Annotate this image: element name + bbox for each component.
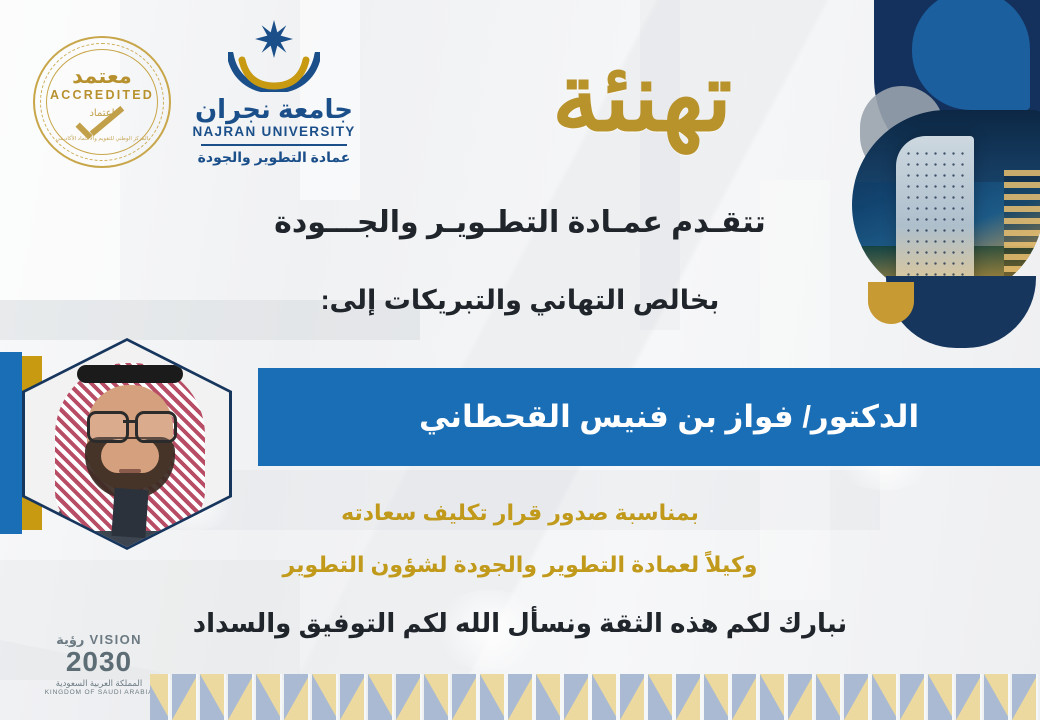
honoree-name: الدكتور/ فواز بن فنيس القحطاني — [379, 399, 919, 435]
headline-line-2: بخالص التهاني والتبريكات إلى: — [0, 285, 1040, 316]
vision-word-english: VISION — [89, 632, 141, 647]
pattern-unit — [732, 674, 758, 720]
pattern-unit — [536, 674, 562, 720]
pattern-unit — [620, 674, 646, 720]
headline-line-1: تتقـدم عمـادة التطـويـر والجـــودة — [0, 205, 1040, 240]
vision-year: 2030 — [28, 648, 170, 676]
pattern-unit — [760, 674, 786, 720]
logo-divider — [201, 144, 347, 146]
seal-arabic-label: معتمد — [33, 64, 171, 89]
pattern-unit — [424, 674, 450, 720]
pattern-unit — [340, 674, 366, 720]
pattern-unit — [396, 674, 422, 720]
kingdom-english: KINGDOM OF SAUDI ARABIA — [28, 689, 170, 696]
honoree-name-banner: الدكتور/ فواز بن فنيس القحطاني — [258, 368, 1040, 466]
pattern-unit — [564, 674, 590, 720]
pattern-unit — [816, 674, 842, 720]
pattern-unit — [452, 674, 478, 720]
pattern-unit — [704, 674, 730, 720]
university-name-arabic: جامعة نجران — [185, 94, 363, 125]
pattern-unit — [872, 674, 898, 720]
vision-2030-logo: VISION رؤية 2030 المملكة العربية السعودي… — [28, 632, 170, 704]
pattern-unit — [928, 674, 954, 720]
university-name-english: NAJRAN UNIVERSITY — [185, 124, 363, 139]
seal-fine-print: المركز الوطني للتقويم والاعتماد الأكاديم… — [33, 136, 171, 142]
pattern-unit — [1012, 674, 1038, 720]
pattern-unit — [228, 674, 254, 720]
pattern-unit — [150, 674, 170, 720]
pattern-unit — [284, 674, 310, 720]
pattern-unit — [368, 674, 394, 720]
pattern-unit — [676, 674, 702, 720]
deanship-label: عمادة التطوير والجودة — [185, 149, 363, 166]
pattern-unit — [844, 674, 870, 720]
pattern-unit — [984, 674, 1010, 720]
university-logo: جامعة نجران NAJRAN UNIVERSITY عمادة التط… — [185, 18, 363, 168]
occasion-line-2: وكيلاً لعمادة التطوير والجودة لشؤون التط… — [0, 552, 1040, 578]
pattern-unit — [788, 674, 814, 720]
accreditation-seal: معتمد ACCREDITED اعتماد المركز الوطني لل… — [33, 36, 171, 168]
decorative-pattern-border — [150, 674, 1040, 720]
occasion-line-1: بمناسبة صدور قرار تكليف سعادته — [0, 500, 1040, 526]
pattern-unit — [480, 674, 506, 720]
pattern-unit — [648, 674, 674, 720]
page-title-calligraphy: تهنئة — [512, 22, 772, 172]
kingdom-arabic: المملكة العربية السعودية — [28, 678, 170, 689]
pattern-unit — [956, 674, 982, 720]
pattern-unit — [592, 674, 618, 720]
pattern-unit — [172, 674, 198, 720]
campus-photo-decoration — [850, 0, 1040, 320]
vision-word-arabic: رؤية — [56, 632, 84, 647]
congratulations-card: معتمد ACCREDITED اعتماد المركز الوطني لل… — [0, 0, 1040, 720]
seal-english-label: ACCREDITED — [33, 88, 171, 102]
blue-scallop-shape — [912, 0, 1030, 110]
pattern-unit — [900, 674, 926, 720]
pattern-unit — [508, 674, 534, 720]
pattern-unit — [200, 674, 226, 720]
book-swoosh-icon — [228, 52, 320, 92]
pattern-unit — [256, 674, 282, 720]
pattern-unit — [312, 674, 338, 720]
